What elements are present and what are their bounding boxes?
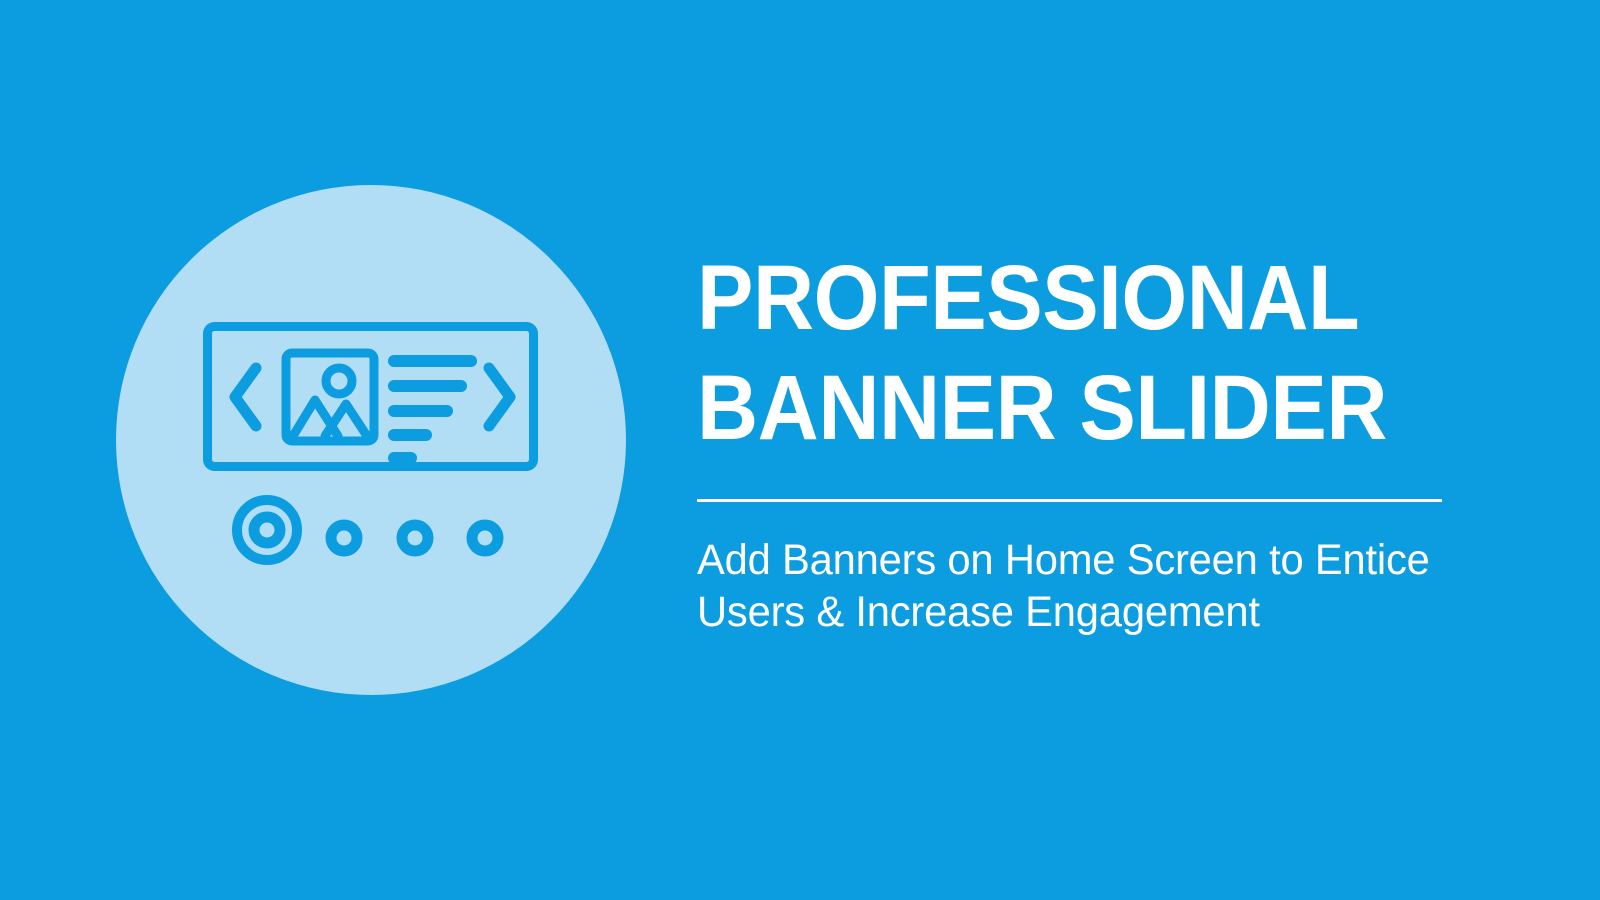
pagination-dot-1-ring[interactable] bbox=[237, 500, 297, 560]
pagination-dot-1[interactable] bbox=[254, 517, 280, 543]
banner-slider-illustration bbox=[116, 185, 626, 695]
image-placeholder-sun-icon bbox=[326, 368, 352, 394]
headline: PROFESSIONAL BANNER SLIDER bbox=[697, 243, 1396, 463]
previous-slide-chevron bbox=[235, 368, 256, 426]
subhead: Add Banners on Home Screen to Entice Use… bbox=[697, 534, 1434, 638]
headline-line-1: PROFESSIONAL bbox=[697, 243, 1396, 353]
pagination-dot-4[interactable] bbox=[472, 525, 498, 551]
pagination-dot-3[interactable] bbox=[402, 525, 428, 551]
divider-rule bbox=[697, 499, 1442, 502]
headline-line-2: BANNER SLIDER bbox=[697, 353, 1396, 463]
subhead-line-1: Add Banners on Home Screen to Entice bbox=[697, 534, 1434, 586]
subhead-line-2: Users & Increase Engagement bbox=[697, 586, 1434, 638]
banner-slider-icon bbox=[116, 185, 626, 695]
banner-slide-graphic: PROFESSIONAL BANNER SLIDER Add Banners o… bbox=[0, 0, 1600, 900]
text-block: PROFESSIONAL BANNER SLIDER Add Banners o… bbox=[697, 243, 1457, 638]
image-placeholder-mountain-front bbox=[293, 400, 338, 436]
next-slide-chevron bbox=[489, 368, 510, 426]
pagination-dot-2[interactable] bbox=[331, 525, 357, 551]
